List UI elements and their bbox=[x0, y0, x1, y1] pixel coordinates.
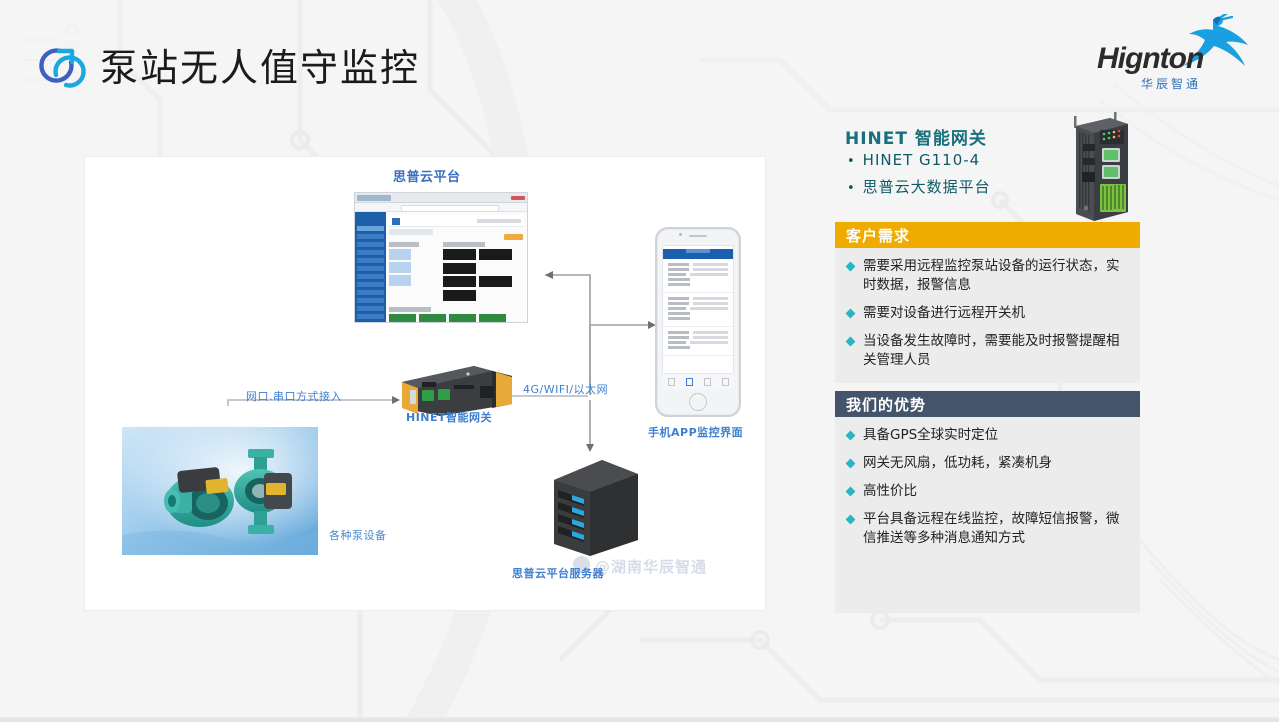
app-tabbar bbox=[662, 373, 734, 389]
footer-divider bbox=[0, 718, 1279, 722]
diamond-bullet-icon bbox=[846, 487, 856, 497]
list-item-label: 具备GPS全球实时定位 bbox=[863, 426, 998, 445]
label-wired-link: 网口.串口方式接入 bbox=[246, 388, 342, 404]
label-pump-devices: 各种泵设备 bbox=[329, 527, 387, 543]
label-app-ui: 手机APP监控界面 bbox=[648, 424, 743, 440]
label-wireless-link: 4G/WIFI/以太网 bbox=[523, 381, 608, 397]
panel-0-body: 需要采用远程监控泵站设备的运行状态，实时数据，报警信息 需要对设备进行远程开关机… bbox=[835, 248, 1140, 383]
linked-circles-logo-icon bbox=[36, 42, 88, 94]
diamond-bullet-icon bbox=[846, 337, 856, 347]
hinet-item-1-label: 思普云大数据平台 bbox=[863, 178, 991, 196]
app-list-item bbox=[663, 259, 733, 293]
label-server: 思普云平台服务器 bbox=[512, 565, 604, 581]
panel-customer-requirements: 客户需求 需要采用远程监控泵站设备的运行状态，实时数据，报警信息 需要对设备进行… bbox=[835, 222, 1140, 383]
label-cloud-platform: 思普云平台 bbox=[393, 166, 461, 185]
list-item: 需要对设备进行远程开关机 bbox=[847, 304, 1128, 323]
phone-home-button bbox=[689, 393, 707, 411]
hinet-gateway-block: HINET 智能网关 •HINET G110-4 •思普云大数据平台 bbox=[835, 110, 1140, 222]
panel-1-body: 具备GPS全球实时定位 网关无风扇，低功耗，紧凑机身 高性价比 平台具备远程在线… bbox=[835, 417, 1140, 561]
diamond-bullet-icon bbox=[846, 309, 856, 319]
cloud-dashboard-screenshot bbox=[354, 192, 528, 323]
hinet-title: HINET 智能网关 bbox=[845, 124, 987, 149]
hinet-item-1: •思普云大数据平台 bbox=[847, 176, 991, 197]
list-item: 具备GPS全球实时定位 bbox=[847, 426, 1128, 445]
phone-camera bbox=[679, 233, 682, 236]
hinet-item-0-label: HINET G110-4 bbox=[863, 151, 981, 169]
browser-addressbar bbox=[355, 203, 527, 212]
smartphone-app-screenshot bbox=[655, 227, 741, 417]
industrial-gateway-device-photo bbox=[1070, 108, 1132, 223]
list-item: 网关无风扇，低功耗，紧凑机身 bbox=[847, 454, 1128, 473]
panel-1-filler bbox=[835, 561, 1140, 613]
list-item-label: 当设备发生故障时，需要能及时报警提醒相关管理人员 bbox=[863, 332, 1128, 370]
watermark-text: @湖南华辰智通 bbox=[595, 556, 707, 577]
list-item: 高性价比 bbox=[847, 482, 1128, 501]
bullet-dot-icon: • bbox=[847, 181, 856, 196]
panel-0-title: 客户需求 bbox=[835, 222, 1140, 248]
page-title: 泵站无人值守监控 bbox=[100, 40, 420, 96]
list-item: 平台具备远程在线监控，故障短信报警，微信推送等多种消息通知方式 bbox=[847, 510, 1128, 548]
list-item-label: 高性价比 bbox=[863, 482, 917, 501]
list-item-label: 需要采用远程监控泵站设备的运行状态，实时数据，报警信息 bbox=[863, 257, 1128, 295]
slide-header: 泵站无人值守监控 Hignton 华辰智通 bbox=[0, 0, 1279, 118]
browser-titlebar bbox=[355, 193, 527, 203]
brand-name: Hignton bbox=[1097, 42, 1203, 76]
list-item-label: 网关无风扇，低功耗，紧凑机身 bbox=[863, 454, 1052, 473]
list-item-label: 需要对设备进行远程开关机 bbox=[863, 304, 1025, 323]
list-item-label: 平台具备远程在线监控，故障短信报警，微信推送等多种消息通知方式 bbox=[863, 510, 1128, 548]
diamond-bullet-icon bbox=[846, 431, 856, 441]
slide-root: 泵站无人值守监控 Hignton 华辰智通 bbox=[0, 0, 1279, 722]
phone-screen bbox=[662, 245, 734, 387]
dashboard-sidebar bbox=[355, 212, 386, 323]
label-gateway: HINET智能网关 bbox=[406, 409, 492, 425]
right-info-column: HINET 智能网关 •HINET G110-4 •思普云大数据平台 bbox=[835, 110, 1140, 613]
bullet-dot-icon: • bbox=[847, 154, 856, 169]
hinet-item-0: •HINET G110-4 bbox=[847, 151, 980, 169]
list-item: 当设备发生故障时，需要能及时报警提醒相关管理人员 bbox=[847, 332, 1128, 370]
dashboard-content bbox=[386, 212, 527, 323]
panel-our-advantages: 我们的优势 具备GPS全球实时定位 网关无风扇，低功耗，紧凑机身 高性价比 平台… bbox=[835, 391, 1140, 613]
brand-logo: Hignton 华辰智通 bbox=[1097, 26, 1239, 92]
diamond-bullet-icon bbox=[846, 262, 856, 272]
phone-speaker bbox=[689, 235, 707, 237]
app-list-item bbox=[663, 327, 733, 356]
list-item: 需要采用远程监控泵站设备的运行状态，实时数据，报警信息 bbox=[847, 257, 1128, 295]
diamond-bullet-icon bbox=[846, 459, 856, 469]
circulation-pumps-photo bbox=[122, 427, 318, 555]
diamond-bullet-icon bbox=[846, 515, 856, 525]
app-titlebar bbox=[663, 249, 733, 259]
app-list-item bbox=[663, 293, 733, 327]
panel-1-title: 我们的优势 bbox=[835, 391, 1140, 417]
server-tower-icon bbox=[546, 452, 642, 558]
brand-name-chinese: 华辰智通 bbox=[1141, 75, 1201, 92]
